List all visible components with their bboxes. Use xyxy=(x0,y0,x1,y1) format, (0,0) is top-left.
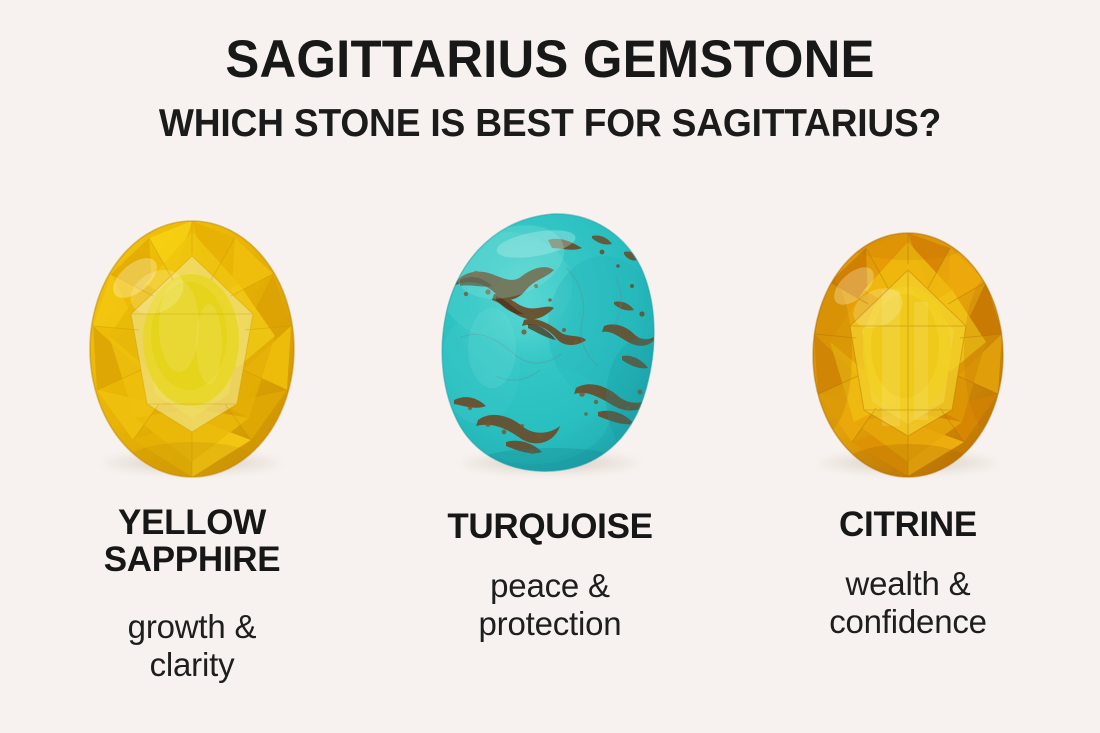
gem-title: YELLOW SAPPHIRE xyxy=(104,480,281,578)
gem-nugget-icon xyxy=(436,208,664,480)
page-title: SAGITTARIUS GEMSTONE xyxy=(22,32,1078,88)
gem-description-line1: peace & xyxy=(490,567,610,604)
header-block: SAGITTARIUS GEMSTONE WHICH STONE IS BEST… xyxy=(0,0,1100,144)
gem-description: wealth & confidence xyxy=(829,543,987,641)
gem-title: TURQUOISE xyxy=(447,480,652,545)
gem-description-line2: clarity xyxy=(150,646,235,683)
gem-title: CITRINE xyxy=(839,480,977,543)
gem-card-yellow-sapphire: YELLOW SAPPHIRE growth & clarity xyxy=(18,196,366,684)
gem-title-line2: SAPPHIRE xyxy=(104,540,281,579)
gem-image-citrine xyxy=(758,196,1058,480)
gem-image-turquoise xyxy=(400,196,700,480)
gem-card-citrine: CITRINE wealth & confidence xyxy=(734,196,1082,641)
gem-description-line2: protection xyxy=(479,605,622,642)
sagittarius-gemstone-poster: SAGITTARIUS GEMSTONE WHICH STONE IS BEST… xyxy=(0,0,1100,733)
gem-oval-icon xyxy=(810,230,1006,480)
gem-description: growth & clarity xyxy=(128,578,257,684)
gem-description-line2: confidence xyxy=(829,603,987,640)
gem-description-line1: growth & xyxy=(128,608,257,645)
gem-card-turquoise: TURQUOISE peace & protection xyxy=(376,196,724,643)
gem-oval-icon xyxy=(87,218,297,480)
gem-description: peace & protection xyxy=(479,545,622,643)
gem-columns: YELLOW SAPPHIRE growth & clarity xyxy=(0,196,1100,684)
gem-description-line1: wealth & xyxy=(846,565,971,602)
gem-image-yellow-sapphire xyxy=(42,196,342,480)
gem-title-line1: YELLOW xyxy=(118,503,266,542)
page-subtitle: WHICH STONE IS BEST FOR SAGITTARIUS? xyxy=(19,88,1081,144)
